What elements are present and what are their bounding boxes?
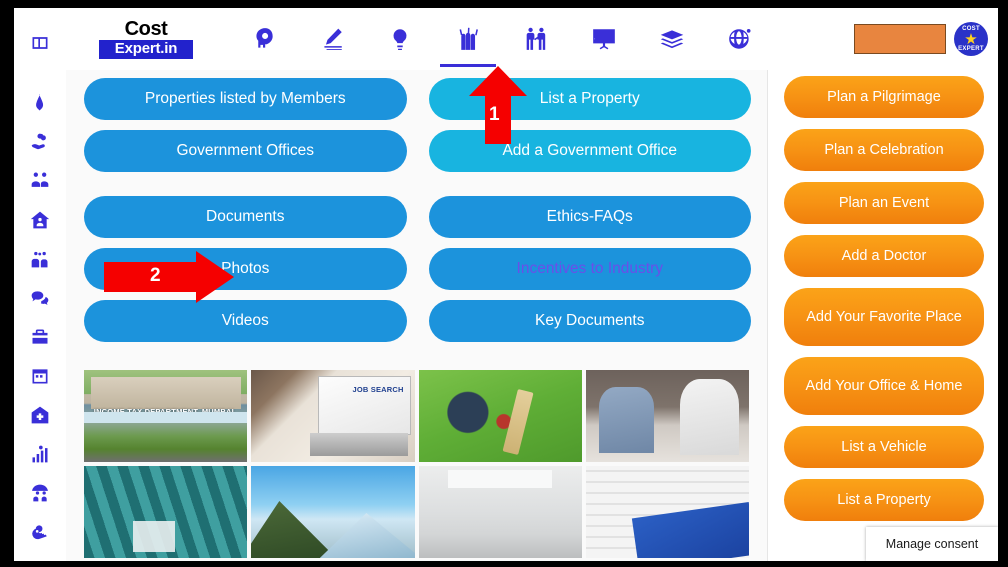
- photo-cricket-gear[interactable]: [419, 370, 582, 462]
- hospital-icon[interactable]: [25, 400, 55, 430]
- star-icon: ★: [964, 32, 977, 47]
- cost-expert-badge[interactable]: COST ★ EXPERT: [954, 22, 988, 56]
- photo-glass-panels[interactable]: [84, 466, 247, 558]
- calendar-icon[interactable]: [25, 361, 55, 391]
- button-row: Government Offices Add a Government Offi…: [84, 130, 751, 172]
- nav-item-library[interactable]: [638, 8, 706, 70]
- logo-text-cost: Cost: [125, 19, 168, 40]
- family-icon[interactable]: [25, 244, 55, 274]
- nav-item-global[interactable]: [706, 8, 774, 70]
- nav-item-partners[interactable]: [502, 8, 570, 70]
- key-icon[interactable]: [25, 517, 55, 547]
- photo-empty-room[interactable]: [419, 466, 582, 558]
- button-add-a-government-office[interactable]: Add a Government Office: [429, 130, 752, 172]
- button-row: Documents Ethics-FAQs: [84, 196, 751, 238]
- button-add-your-office-and-home[interactable]: Add Your Office & Home: [784, 357, 984, 415]
- button-add-your-favorite-place[interactable]: Add Your Favorite Place: [784, 288, 984, 346]
- button-row: Properties listed by Members List a Prop…: [84, 78, 751, 120]
- panel-toggle-icon[interactable]: [25, 28, 55, 58]
- umbrella-people-icon[interactable]: [25, 478, 55, 508]
- nav-icon-group: [230, 8, 854, 70]
- category-button-grid: Properties listed by Members List a Prop…: [66, 70, 767, 342]
- badge-top-text: COST: [954, 26, 988, 32]
- button-list-a-property-sidebar[interactable]: List a Property: [784, 479, 984, 521]
- browser-viewport: Cost Expert.in: [14, 8, 998, 561]
- photo-caption: JOB SEARCH: [352, 385, 403, 394]
- manage-consent-popup[interactable]: Manage consent: [866, 527, 998, 561]
- nav-item-participate[interactable]: [434, 8, 502, 70]
- left-icon-rail: [14, 8, 66, 561]
- photo-gallery: INCOME TAX DEPARTMENT, MUMBAI JOB SEARCH: [84, 370, 749, 561]
- badge-bottom-text: EXPERT: [954, 46, 988, 52]
- button-row: Photos Incentives to Industry: [84, 248, 751, 290]
- content-area: Properties listed by Members List a Prop…: [66, 70, 998, 561]
- briefcase-icon[interactable]: [25, 322, 55, 352]
- nav-item-training[interactable]: [570, 8, 638, 70]
- home-user-icon[interactable]: [25, 205, 55, 235]
- button-list-a-vehicle[interactable]: List a Vehicle: [784, 426, 984, 468]
- redacted-account-button[interactable]: [854, 24, 946, 54]
- photo-job-search-desk[interactable]: JOB SEARCH: [251, 370, 414, 462]
- button-plan-a-celebration[interactable]: Plan a Celebration: [784, 129, 984, 171]
- manage-consent-label: Manage consent: [886, 537, 978, 551]
- button-properties-listed-by-members[interactable]: Properties listed by Members: [84, 78, 407, 120]
- people-group-icon[interactable]: [25, 166, 55, 196]
- button-incentives-to-industry[interactable]: Incentives to Industry: [429, 248, 752, 290]
- button-plan-an-event[interactable]: Plan an Event: [784, 182, 984, 224]
- praying-hands-icon[interactable]: [25, 88, 55, 118]
- site-logo[interactable]: Cost Expert.in: [90, 19, 202, 60]
- logo-text-expertin: Expert.in: [99, 40, 193, 60]
- button-list-a-property[interactable]: List a Property: [429, 78, 752, 120]
- photo-blue-folder[interactable]: [586, 466, 749, 558]
- button-documents[interactable]: Documents: [84, 196, 407, 238]
- nav-item-knowledge[interactable]: [230, 8, 298, 70]
- button-government-offices[interactable]: Government Offices: [84, 130, 407, 172]
- button-ethics-faqs[interactable]: Ethics-FAQs: [429, 196, 752, 238]
- button-videos[interactable]: Videos: [84, 300, 407, 342]
- person-chart-icon[interactable]: [25, 439, 55, 469]
- nav-item-write[interactable]: [298, 8, 366, 70]
- page-body: Cost Expert.in: [66, 8, 998, 561]
- button-key-documents[interactable]: Key Documents: [429, 300, 752, 342]
- photo-mountain-landscape[interactable]: [251, 466, 414, 558]
- photo-caption: INCOME TAX DEPARTMENT, MUMBAI: [94, 407, 234, 416]
- button-row: Videos Key Documents: [84, 300, 751, 342]
- button-photos[interactable]: Photos: [84, 248, 407, 290]
- top-navigation-bar: Cost Expert.in: [66, 8, 998, 70]
- charity-hand-icon[interactable]: [25, 127, 55, 157]
- photo-income-tax-department[interactable]: INCOME TAX DEPARTMENT, MUMBAI: [84, 370, 247, 462]
- photo-doctor-patient[interactable]: [586, 370, 749, 462]
- button-plan-a-pilgrimage[interactable]: Plan a Pilgrimage: [784, 76, 984, 118]
- nav-item-ideas[interactable]: [366, 8, 434, 70]
- right-action-column: Plan a Pilgrimage Plan a Celebration Pla…: [768, 70, 998, 561]
- screenshot-root: Cost Expert.in: [0, 0, 1008, 567]
- main-column: Properties listed by Members List a Prop…: [66, 70, 768, 561]
- chat-bubbles-icon[interactable]: [25, 283, 55, 313]
- button-add-a-doctor[interactable]: Add a Doctor: [784, 235, 984, 277]
- top-right-group: COST ★ EXPERT: [854, 22, 992, 56]
